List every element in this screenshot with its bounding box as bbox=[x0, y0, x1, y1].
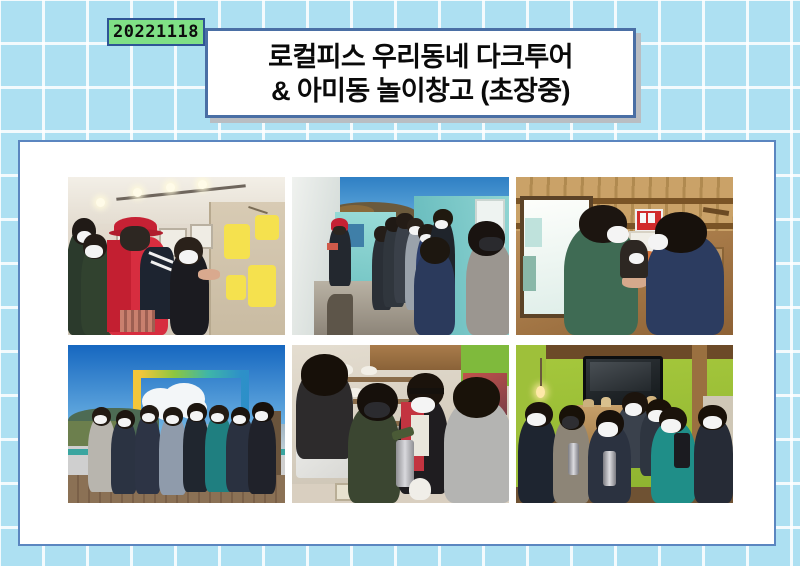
photo-2-scene bbox=[292, 177, 509, 335]
photo-wooden-room bbox=[516, 177, 733, 335]
photo-green-room-group bbox=[516, 345, 733, 503]
photo-4-scene bbox=[68, 345, 285, 503]
photo-1-scene bbox=[68, 177, 285, 335]
date-badge: 20221118 bbox=[107, 18, 205, 46]
title-line-2: & 아미동 놀이창고 (초장중) bbox=[271, 74, 570, 108]
photo-exhibition-guide bbox=[68, 177, 285, 335]
slide-page: 20221118 로컬피스 우리동네 다크투어 & 아미동 놀이창고 (초장중) bbox=[0, 0, 800, 566]
date-badge-text: 20221118 bbox=[113, 24, 199, 41]
photo-6-scene bbox=[516, 345, 733, 503]
title-card: 로컬피스 우리동네 다크투어 & 아미동 놀이창고 (초장중) bbox=[205, 28, 636, 118]
photo-alley-tour bbox=[292, 177, 509, 335]
photo-3-scene bbox=[516, 177, 733, 335]
photo-viewpoint-group bbox=[68, 345, 285, 503]
photo-5-scene bbox=[292, 345, 509, 503]
title-line-1: 로컬피스 우리동네 다크투어 bbox=[268, 40, 573, 74]
photo-grid bbox=[68, 177, 733, 513]
photo-workshop-pouring bbox=[292, 345, 509, 503]
